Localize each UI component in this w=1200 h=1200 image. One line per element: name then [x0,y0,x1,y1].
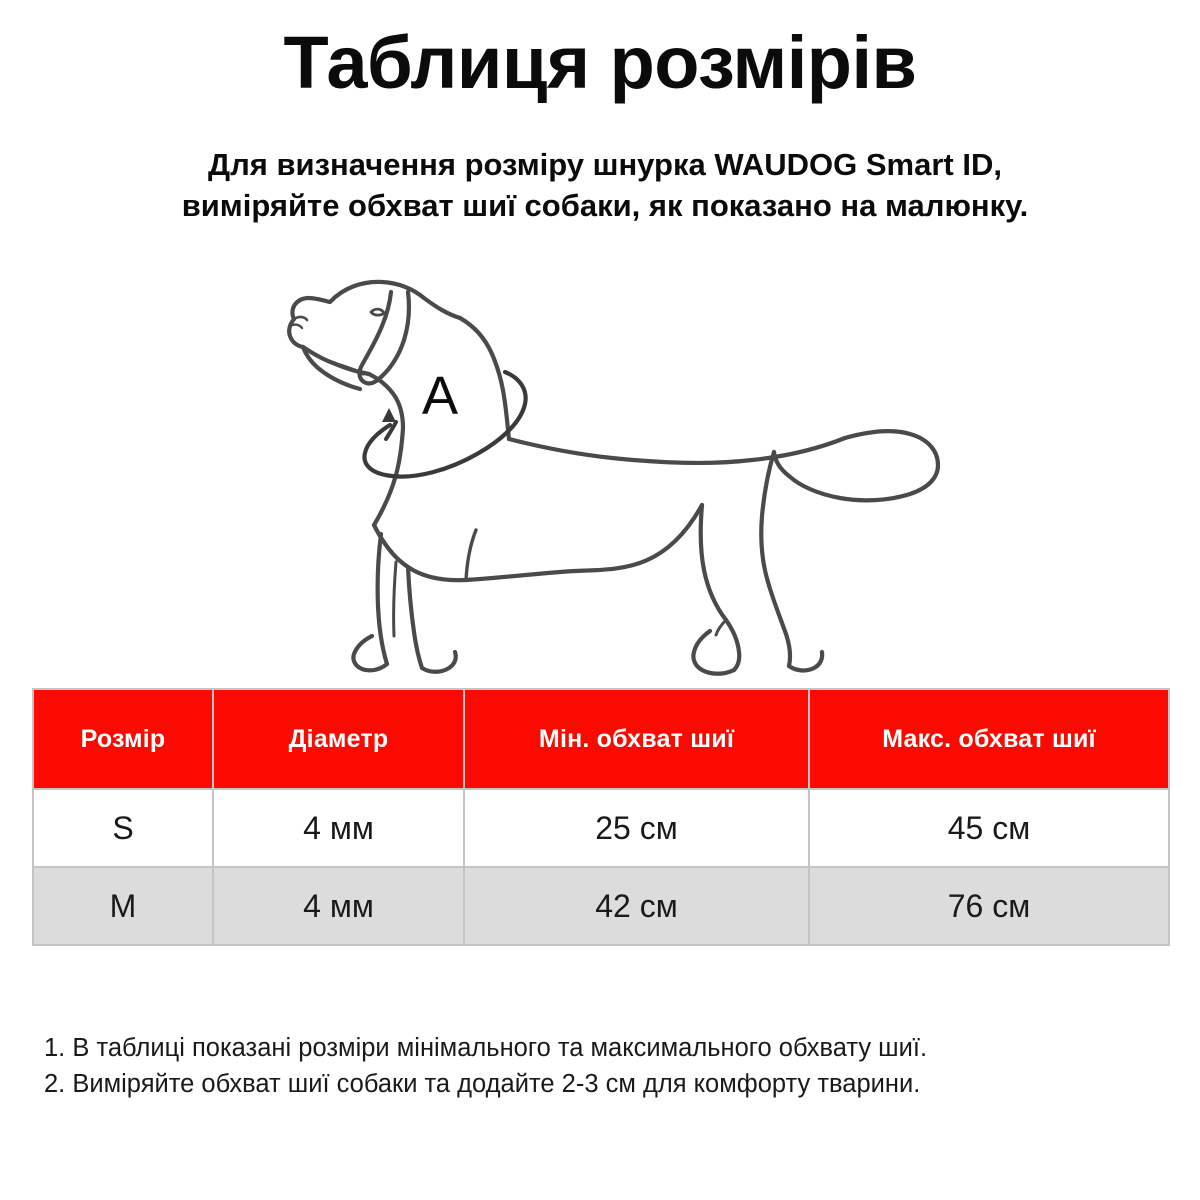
cell-size: S [33,789,213,867]
cell-max-neck: 76 см [809,867,1169,945]
cell-max-neck: 45 см [809,789,1169,867]
table-row: M 4 мм 42 см 76 см [33,867,1169,945]
size-table-container: Розмір Діаметр Мін. обхват шиї Макс. обх… [32,688,1168,946]
size-chart-page: Таблиця розмірів Для визначення розміру … [0,0,1200,1200]
column-header-min-neck: Мін. обхват шиї [464,689,809,789]
cell-size: M [33,867,213,945]
notes-list: 1. В таблиці показані розміри мінімально… [44,1030,1174,1102]
size-table: Розмір Діаметр Мін. обхват шиї Макс. обх… [32,688,1170,946]
cell-diameter: 4 мм [213,789,464,867]
column-header-max-neck: Макс. обхват шиї [809,689,1169,789]
cell-diameter: 4 мм [213,867,464,945]
column-header-size: Розмір [33,689,213,789]
note-item: 1. В таблиці показані розміри мінімально… [44,1030,1174,1066]
page-title: Таблиця розмірів [0,0,1200,100]
page-subtitle: Для визначення розміру шнурка WAUDOG Sma… [0,100,1200,226]
table-row: S 4 мм 25 см 45 см [33,789,1169,867]
measure-label-a: A [422,366,458,426]
note-item: 2. Виміряйте обхват шиї собаки та додайт… [44,1066,1174,1102]
table-header-row: Розмір Діаметр Мін. обхват шиї Макс. обх… [33,689,1169,789]
subtitle-line-2: виміряйте обхват шиї собаки, як показано… [55,185,1155,226]
column-header-diameter: Діаметр [213,689,464,789]
cell-min-neck: 42 см [464,867,809,945]
cell-min-neck: 25 см [464,789,809,867]
dog-outline-icon: A [0,262,1200,682]
dog-illustration: A [0,262,1200,682]
subtitle-line-1: Для визначення розміру шнурка WAUDOG Sma… [55,144,1155,185]
